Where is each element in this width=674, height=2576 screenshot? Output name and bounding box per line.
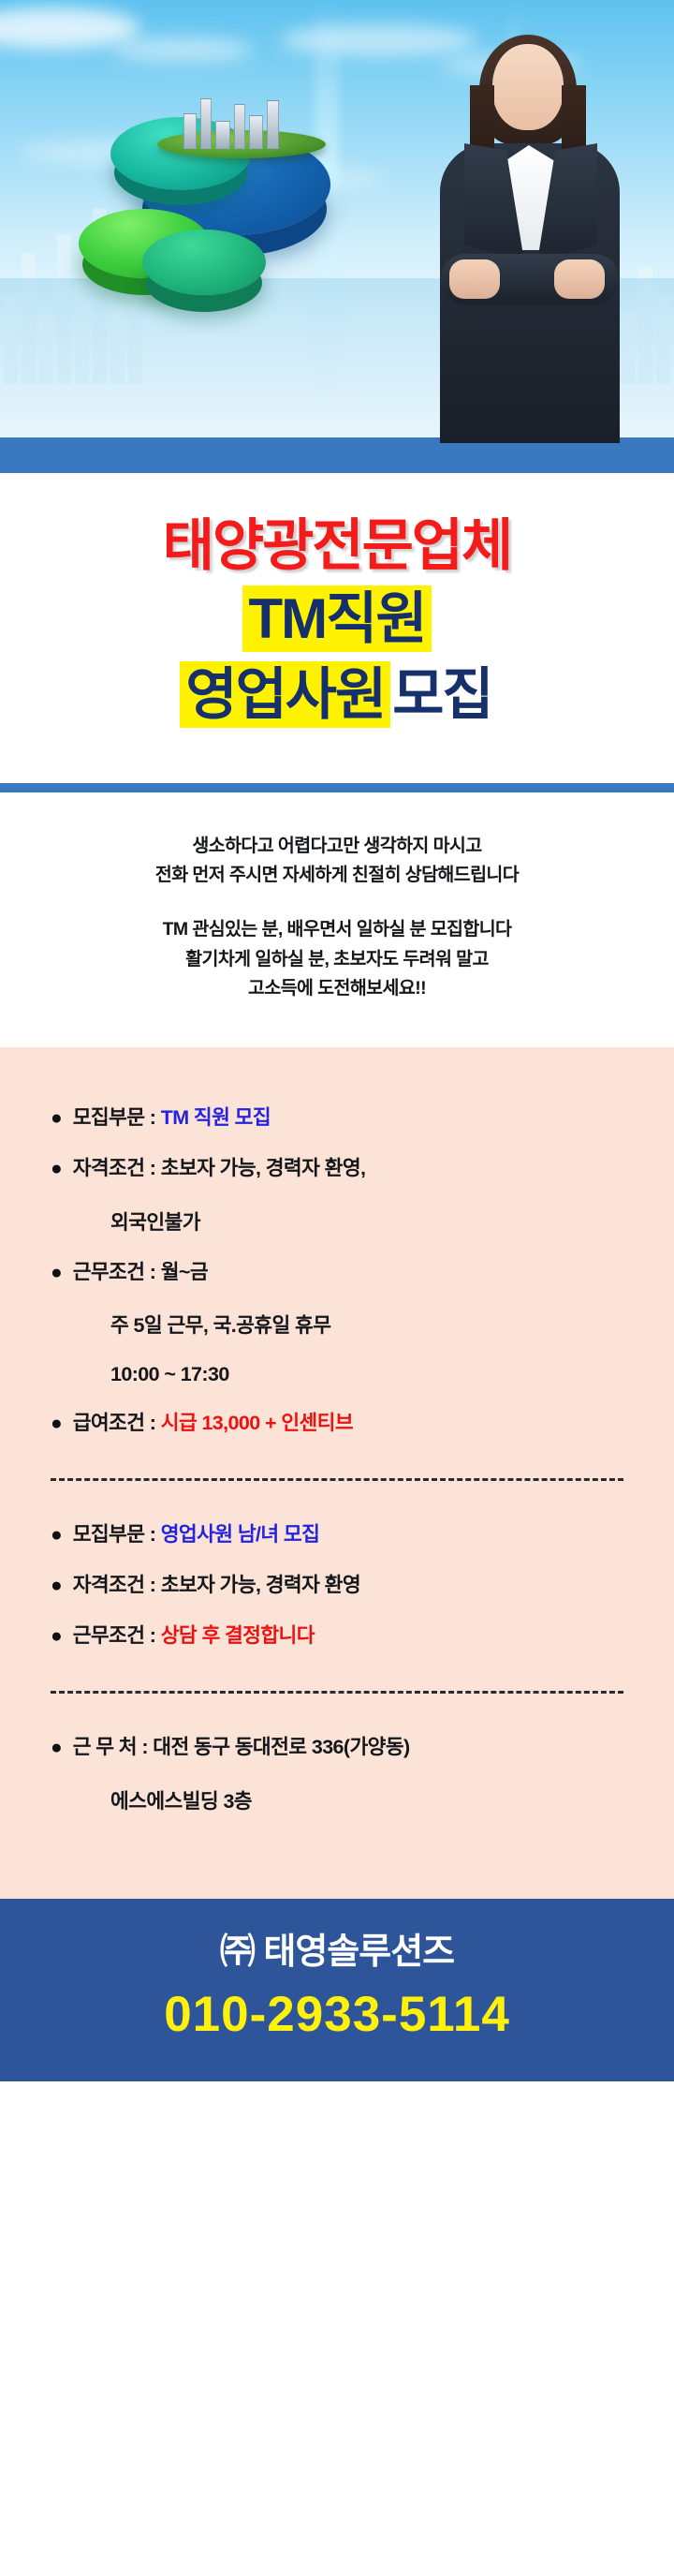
cloud-shape bbox=[112, 37, 253, 62]
mini-city-model bbox=[178, 91, 300, 149]
intro-line-5: 고소득에 도전해보세요!! bbox=[0, 974, 674, 1004]
tm-qualification-value: 초보자 가능, 경력자 환영, bbox=[161, 1157, 366, 1179]
bullet-icon: ● bbox=[51, 1157, 63, 1181]
details-panel: ● 모집부문 : TM 직원 모집 ● 자격조건 : 초보자 가능, 경력자 환… bbox=[0, 1047, 674, 1900]
workplace-building-sub: 에스에스빌딩 3층 bbox=[0, 1785, 674, 1814]
tm-recruit-role-row: ● 모집부문 : TM 직원 모집 bbox=[0, 1105, 674, 1132]
tm-qualification-label: 자격조건 : bbox=[73, 1157, 161, 1179]
title-line-1: 태양광전문업체 bbox=[0, 514, 674, 577]
hero-banner bbox=[0, 0, 674, 473]
tm-pay-label: 급여조건 : bbox=[73, 1412, 161, 1434]
sales-recruit-role-row: ● 모집부문 : 영업사원 남/녀 모집 bbox=[0, 1522, 674, 1548]
sales-recruit-role-value: 영업사원 남/녀 모집 bbox=[161, 1523, 320, 1546]
section-divider-2 bbox=[51, 1691, 623, 1694]
intro-line-1: 생소하다고 어렵다고만 생각하지 마시고 bbox=[0, 832, 674, 862]
bullet-icon: ● bbox=[51, 1412, 63, 1436]
intro-line-3: TM 관심있는 분, 배우면서 일하실 분 모집합니다 bbox=[0, 915, 674, 945]
sales-recruit-role-label: 모집부문 : bbox=[73, 1523, 161, 1546]
hand-left bbox=[449, 259, 500, 299]
tm-recruit-role-text: 모집부문 : TM 직원 모집 bbox=[73, 1105, 271, 1132]
workplace-row: ● 근 무 처 : 대전 동구 동대전로 336(가양동) bbox=[0, 1735, 674, 1761]
tm-recruit-role-label: 모집부문 : bbox=[73, 1106, 161, 1129]
tm-work-hours-sub: 10:00 ~ 17:30 bbox=[0, 1363, 674, 1386]
bullet-icon: ● bbox=[51, 1736, 63, 1760]
phone-number[interactable]: 010-2933-5114 bbox=[0, 1987, 674, 2044]
sales-qualification-text: 자격조건 : 초보자 가능, 경력자 환영 bbox=[73, 1573, 360, 1599]
title-block: 태양광전문업체 TM직원 영업사원모집 bbox=[0, 473, 674, 766]
tm-pay-text: 급여조건 : 시급 13,000 + 인센티브 bbox=[73, 1411, 353, 1437]
sales-qualification-row: ● 자격조건 : 초보자 가능, 경력자 환영 bbox=[0, 1573, 674, 1599]
bullet-icon: ● bbox=[51, 1574, 63, 1598]
title-line-2: TM직원 bbox=[0, 586, 674, 653]
sales-work-condition-value: 상담 후 결정합니다 bbox=[161, 1624, 315, 1647]
footer-contact-bar: ㈜ 태영솔루션즈 010-2933-5114 bbox=[0, 1899, 674, 2080]
cloud-shape bbox=[0, 7, 140, 49]
tm-pay-row: ● 급여조건 : 시급 13,000 + 인센티브 bbox=[0, 1411, 674, 1437]
intro-line-4: 활기차게 일하실 분, 초보자도 두려워 말고 bbox=[0, 945, 674, 975]
tm-recruit-role-value: TM 직원 모집 bbox=[161, 1106, 271, 1129]
pie-slice-dark-green bbox=[142, 229, 266, 295]
bullet-icon: ● bbox=[51, 1624, 63, 1649]
tm-work-days-sub: 주 5일 근무, 국.공휴일 휴무 bbox=[0, 1310, 674, 1339]
tm-work-condition-label: 근무조건 : bbox=[73, 1261, 161, 1283]
head-shape bbox=[492, 44, 564, 130]
sales-qualification-value: 초보자 가능, 경력자 환영 bbox=[161, 1574, 360, 1596]
section-divider-1 bbox=[51, 1478, 623, 1481]
title-line-3-highlight: 영업사원 bbox=[180, 661, 390, 728]
bullet-icon: ● bbox=[51, 1261, 63, 1285]
sales-qualification-label: 자격조건 : bbox=[73, 1574, 161, 1596]
tm-qualification-text: 자격조건 : 초보자 가능, 경력자 환영, bbox=[73, 1156, 366, 1182]
tm-qualification-row: ● 자격조건 : 초보자 가능, 경력자 환영, bbox=[0, 1156, 674, 1182]
intro-section: 생소하다고 어렵다고만 생각하지 마시고 전화 먼저 주시면 자세하게 친절히 … bbox=[0, 792, 674, 1047]
3d-pie-chart bbox=[37, 89, 346, 323]
bullet-icon: ● bbox=[51, 1106, 63, 1131]
sales-work-condition-label: 근무조건 : bbox=[73, 1624, 161, 1647]
tm-work-condition-text: 근무조건 : 월~금 bbox=[73, 1260, 208, 1286]
recruitment-poster: 태양광전문업체 TM직원 영업사원모집 생소하다고 어렵다고만 생각하지 마시고… bbox=[0, 0, 674, 2576]
tm-qualification-sub: 외국인불가 bbox=[0, 1207, 674, 1236]
tm-work-condition-row: ● 근무조건 : 월~금 bbox=[0, 1260, 674, 1286]
intro-line-2: 전화 먼저 주시면 자세하게 친절히 상담해드립니다 bbox=[0, 861, 674, 891]
tm-work-condition-value: 월~금 bbox=[161, 1261, 208, 1283]
businesswoman-figure bbox=[412, 35, 646, 437]
tm-pay-value: 시급 13,000 + 인센티브 bbox=[161, 1412, 353, 1434]
bullet-icon: ● bbox=[51, 1523, 63, 1547]
sales-work-condition-text: 근무조건 : 상담 후 결정합니다 bbox=[73, 1623, 315, 1650]
title-line-3: 영업사원모집 bbox=[0, 662, 674, 729]
workplace-label: 근 무 처 : bbox=[73, 1736, 154, 1758]
workplace-text: 근 무 처 : 대전 동구 동대전로 336(가양동) bbox=[73, 1735, 410, 1761]
title-line-3-plain: 모집 bbox=[390, 661, 493, 728]
workplace-value: 대전 동구 동대전로 336(가양동) bbox=[153, 1736, 409, 1758]
company-name: ㈜ 태영솔루션즈 bbox=[0, 1931, 674, 1976]
sales-work-condition-row: ● 근무조건 : 상담 후 결정합니다 bbox=[0, 1623, 674, 1650]
title-divider-bar bbox=[0, 783, 674, 792]
paragraph-gap bbox=[0, 891, 674, 915]
title-line-2-highlight: TM직원 bbox=[242, 585, 431, 652]
hand-right bbox=[554, 259, 605, 299]
sales-recruit-role-text: 모집부문 : 영업사원 남/녀 모집 bbox=[73, 1522, 320, 1548]
